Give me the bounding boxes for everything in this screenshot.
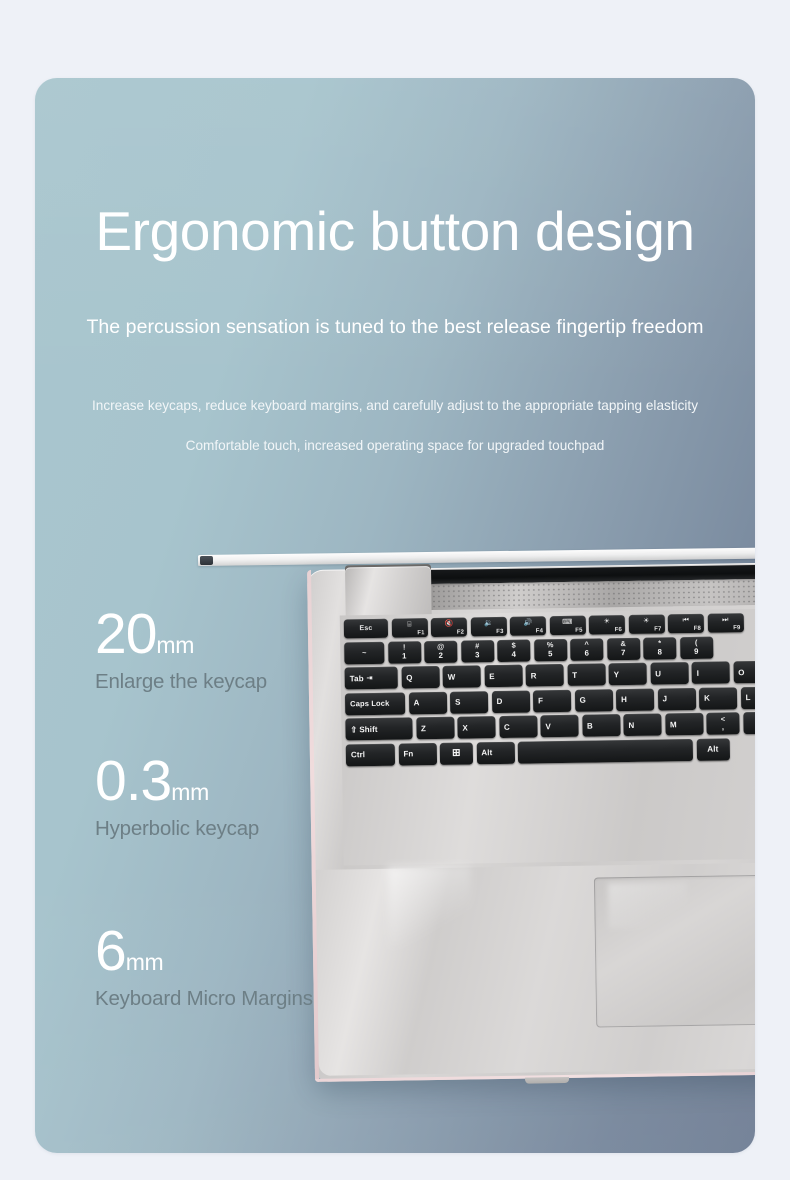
spec-label: Keyboard Micro Margins <box>95 987 313 1011</box>
key-b[interactable]: B <box>582 714 620 737</box>
palm-rest-highlight <box>388 865 472 949</box>
mute-icon: 🔇 <box>431 620 467 628</box>
key-3[interactable]: #3 <box>461 640 494 663</box>
key-esc[interactable]: Esc <box>344 619 388 639</box>
spec-unit: mm <box>156 632 194 659</box>
key-alt-right[interactable]: Alt <box>696 738 729 761</box>
key-tilde[interactable]: ~ <box>344 641 384 664</box>
key-y[interactable]: Y <box>609 663 647 686</box>
key-t[interactable]: T <box>567 663 605 686</box>
key-a[interactable]: A <box>408 691 446 714</box>
key-f[interactable]: F <box>533 689 571 712</box>
key-f7[interactable]: ☀F7 <box>628 614 664 634</box>
key-f5[interactable]: ⌨F5 <box>549 616 585 636</box>
key-x[interactable]: X <box>457 716 495 739</box>
keyboard-shift-row: ⇧Shift Z X C V B N M <, >. <box>345 711 755 741</box>
key-alt-left[interactable]: Alt <box>476 741 514 764</box>
spec-unit: mm <box>126 949 164 976</box>
key-f4[interactable]: 🔊F4 <box>510 616 546 636</box>
key-u[interactable]: U <box>650 662 688 685</box>
key-5[interactable]: %5 <box>534 638 567 661</box>
spec-callout-keycap-size: 20mm Enlarge the keycap <box>95 606 267 694</box>
laptop-base: Esc ⌸F1 🔇F2 🔉F3 🔊F4 ⌨F5 ☀F6 ☀F7 ⏮F8 ⏭F9 … <box>307 562 755 1082</box>
previous-track-icon: ⏮ <box>668 617 704 625</box>
key-7[interactable]: &7 <box>607 637 640 660</box>
touchpad-highlight <box>608 882 688 928</box>
key-2[interactable]: @2 <box>424 640 457 663</box>
keyboard-function-row: Esc ⌸F1 🔇F2 🔉F3 🔊F4 ⌨F5 ☀F6 ☀F7 ⏮F8 ⏭F9 <box>344 612 755 639</box>
key-c[interactable]: C <box>499 715 537 738</box>
tab-arrow-icon: ⇥ <box>367 674 373 682</box>
key-f9[interactable]: ⏭F9 <box>707 613 743 633</box>
feature-card: Esc ⌸F1 🔇F2 🔉F3 🔊F4 ⌨F5 ☀F6 ☀F7 ⏮F8 ⏭F9 … <box>35 78 755 1153</box>
spec-label: Hyperbolic keycap <box>95 817 259 841</box>
key-v[interactable]: V <box>540 715 578 738</box>
spec-unit: mm <box>171 779 209 806</box>
key-e[interactable]: E <box>484 665 522 688</box>
key-d[interactable]: D <box>491 690 529 713</box>
key-k[interactable]: K <box>699 687 737 710</box>
key-4[interactable]: $4 <box>497 639 530 662</box>
spec-value: 6 <box>95 923 126 980</box>
key-comma[interactable]: <, <box>706 712 739 735</box>
key-ctrl[interactable]: Ctrl <box>346 743 395 766</box>
product-feature-page: Esc ⌸F1 🔇F2 🔉F3 🔊F4 ⌨F5 ☀F6 ☀F7 ⏮F8 ⏭F9 … <box>0 0 790 1180</box>
key-period[interactable]: >. <box>743 712 755 735</box>
next-track-icon: ⏭ <box>707 616 743 624</box>
key-space[interactable] <box>518 738 693 763</box>
page-title: Ergonomic button design <box>35 204 755 259</box>
key-shift-left[interactable]: ⇧Shift <box>345 717 412 740</box>
touchpad[interactable] <box>594 874 755 1028</box>
keyboard: Esc ⌸F1 🔇F2 🔉F3 🔊F4 ⌨F5 ☀F6 ☀F7 ⏮F8 ⏭F9 … <box>340 608 755 866</box>
detail-line-1: Increase keycaps, reduce keyboard margin… <box>35 398 755 413</box>
subtitle: The percussion sensation is tuned to the… <box>35 316 755 339</box>
key-f1[interactable]: ⌸F1 <box>391 618 427 638</box>
laptop-lid-hinge-nub <box>200 556 213 565</box>
keyboard-qwerty-row: Tab⇥ Q W E R T Y U I O <box>345 660 755 690</box>
spec-callout-hyperbolic-keycap: 0.3mm Hyperbolic keycap <box>95 753 259 841</box>
key-8[interactable]: *8 <box>643 637 676 660</box>
key-tab[interactable]: Tab⇥ <box>345 667 398 690</box>
key-w[interactable]: W <box>443 665 481 688</box>
keyboard-modifier-row: Ctrl Fn ⊞ Alt Alt <box>346 736 755 766</box>
key-9[interactable]: (9 <box>680 636 713 659</box>
volume-down-icon: 🔉 <box>470 620 506 628</box>
keyboard-number-row: ~ !1 @2 #3 $4 %5 ^6 &7 *8 (9 <box>344 634 755 664</box>
key-6[interactable]: ^6 <box>570 638 603 661</box>
key-g[interactable]: G <box>574 689 612 712</box>
key-f3[interactable]: 🔉F3 <box>470 617 506 637</box>
shift-arrow-icon: ⇧ <box>350 725 357 734</box>
key-h[interactable]: H <box>616 688 654 711</box>
key-z[interactable]: Z <box>416 717 454 740</box>
spec-label: Enlarge the keycap <box>95 670 267 694</box>
key-f2[interactable]: 🔇F2 <box>431 617 467 637</box>
spec-callout-micro-margins: 6mm Keyboard Micro Margins <box>95 923 313 1011</box>
palm-rest <box>316 862 755 1076</box>
spec-value-row: 0.3mm <box>95 753 259 810</box>
spec-value-row: 20mm <box>95 606 267 663</box>
key-i[interactable]: I <box>691 661 729 684</box>
key-n[interactable]: N <box>623 713 661 736</box>
key-m[interactable]: M <box>665 713 703 736</box>
spec-value: 20 <box>95 606 156 663</box>
keyboard-backlight-icon: ⌨ <box>549 619 585 627</box>
key-l[interactable]: L <box>740 686 755 709</box>
key-caps-lock[interactable]: Caps Lock <box>345 692 405 715</box>
spec-value: 0.3 <box>95 753 171 810</box>
brightness-up-icon: ☀ <box>628 617 664 625</box>
key-q[interactable]: Q <box>401 666 439 689</box>
key-s[interactable]: S <box>450 691 488 714</box>
key-o[interactable]: O <box>733 661 755 684</box>
key-f6[interactable]: ☀F6 <box>589 615 625 635</box>
speaker-grille <box>431 578 755 610</box>
key-1[interactable]: !1 <box>388 641 421 664</box>
spec-value-row: 6mm <box>95 923 313 980</box>
brightness-down-icon: ☀ <box>589 618 625 626</box>
keyboard-home-row: Caps Lock A S D F G H J K L <box>345 685 755 715</box>
laptop-lid-edge <box>198 548 755 566</box>
windows-key-icon[interactable]: ⊞ <box>440 742 473 765</box>
key-r[interactable]: R <box>526 664 564 687</box>
volume-up-icon: 🔊 <box>510 619 546 627</box>
display-icon: ⌸ <box>391 621 427 629</box>
detail-line-2: Comfortable touch, increased operating s… <box>35 438 755 453</box>
key-fn[interactable]: Fn <box>398 742 436 765</box>
key-j[interactable]: J <box>657 687 695 710</box>
key-f8[interactable]: ⏮F8 <box>668 614 704 634</box>
deck-front-notch <box>525 1077 569 1084</box>
